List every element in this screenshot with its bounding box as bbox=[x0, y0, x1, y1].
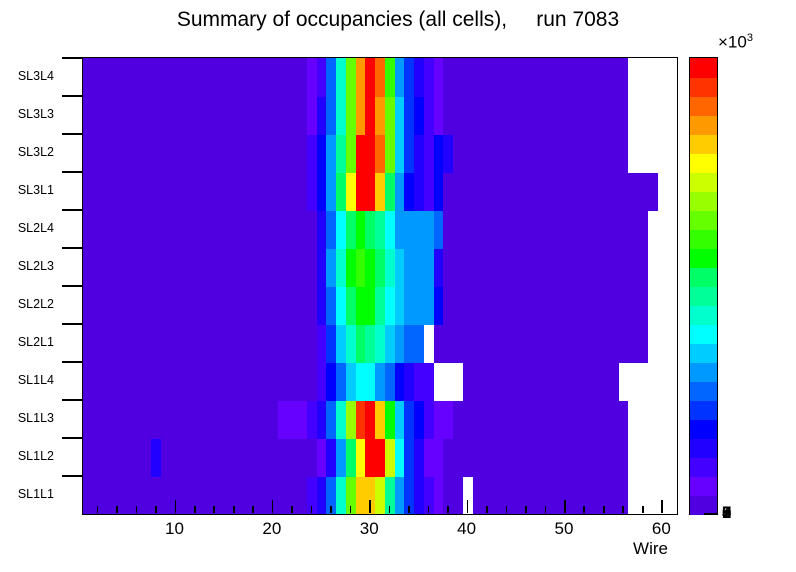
x-axis-tick bbox=[525, 506, 527, 513]
x-axis-tick bbox=[389, 506, 391, 513]
heatmap-cell bbox=[667, 58, 677, 97]
heatmap-cell bbox=[667, 172, 677, 211]
page-title: Summary of occupancies (all cells), run … bbox=[0, 8, 796, 32]
x-axis-title: Wire bbox=[633, 539, 668, 559]
y-axis-tick bbox=[62, 247, 82, 249]
y-axis-label: SL1L4 bbox=[18, 373, 54, 387]
x-axis-tick bbox=[155, 506, 157, 513]
x-axis-tick bbox=[233, 506, 235, 513]
x-axis-tick bbox=[564, 500, 566, 513]
y-axis-label: SL1L2 bbox=[18, 449, 54, 463]
x-axis-tick bbox=[311, 506, 313, 513]
x-axis-tick bbox=[467, 500, 469, 513]
color-scale-segment bbox=[690, 229, 717, 249]
heatmap-cells bbox=[83, 58, 677, 514]
x-axis-tick bbox=[545, 506, 547, 513]
x-axis-tick bbox=[175, 500, 177, 513]
color-scale-bar bbox=[689, 57, 718, 515]
y-axis-label: SL3L4 bbox=[18, 69, 54, 83]
heatmap-cell bbox=[667, 210, 677, 249]
x-axis-tick-label: 60 bbox=[652, 519, 671, 539]
y-axis-tick bbox=[62, 323, 82, 325]
x-axis-tick bbox=[136, 506, 138, 513]
y-axis-label: SL1L3 bbox=[18, 411, 54, 425]
x-axis-tick bbox=[350, 506, 352, 513]
x-axis-tick bbox=[603, 506, 605, 513]
x-axis-tick bbox=[252, 506, 254, 513]
plot-frame bbox=[82, 57, 678, 515]
color-scale-segment bbox=[690, 362, 717, 382]
color-scale-segment bbox=[690, 210, 717, 230]
heatmap-cell bbox=[667, 362, 677, 401]
color-scale-segment bbox=[690, 248, 717, 268]
x-axis-tick bbox=[486, 506, 488, 513]
color-scale-segment bbox=[690, 153, 717, 173]
y-axis-labels: SL1L1SL1L2SL1L3SL1L4SL2L1SL2L2SL2L3SL2L4… bbox=[0, 57, 76, 513]
y-axis-label: SL2L2 bbox=[18, 297, 54, 311]
x-axis-tick bbox=[661, 500, 663, 513]
color-scale-segment bbox=[690, 495, 717, 515]
y-axis-tick bbox=[62, 57, 82, 59]
x-axis-tick-label: 10 bbox=[165, 519, 184, 539]
x-axis-tick-label: 20 bbox=[262, 519, 281, 539]
y-axis-label: SL2L4 bbox=[18, 221, 54, 235]
x-axis-tick bbox=[194, 506, 196, 513]
x-axis-tick bbox=[428, 506, 430, 513]
x-axis-tick bbox=[506, 506, 508, 513]
color-scale-segment bbox=[690, 172, 717, 192]
z-exponent-base: ×10 bbox=[718, 33, 747, 52]
color-scale-segment bbox=[690, 134, 717, 154]
y-axis-tick bbox=[62, 475, 82, 477]
x-axis-tick bbox=[408, 506, 410, 513]
y-axis-tick bbox=[62, 209, 82, 211]
x-axis-tick-label: 50 bbox=[555, 519, 574, 539]
x-axis-tick bbox=[447, 506, 449, 513]
color-scale-segment bbox=[690, 77, 717, 97]
y-axis-label: SL3L2 bbox=[18, 145, 54, 159]
y-axis-tick bbox=[62, 361, 82, 363]
heatmap-cell bbox=[667, 324, 677, 363]
x-axis-tick bbox=[330, 506, 332, 513]
color-scale-segment bbox=[690, 58, 717, 78]
x-axis-tick bbox=[213, 506, 215, 513]
y-axis-label: SL2L1 bbox=[18, 335, 54, 349]
x-axis-tick bbox=[642, 506, 644, 513]
y-axis-tick bbox=[62, 133, 82, 135]
z-exponent-power: 3 bbox=[747, 32, 753, 44]
y-axis-tick bbox=[62, 171, 82, 173]
x-axis-tick bbox=[622, 506, 624, 513]
color-scale-segment bbox=[690, 457, 717, 477]
heatmap-cell bbox=[667, 286, 677, 325]
y-axis-tick bbox=[62, 437, 82, 439]
x-axis-tick bbox=[291, 506, 293, 513]
color-scale-segment bbox=[690, 286, 717, 306]
x-axis-tick-label: 40 bbox=[457, 519, 476, 539]
y-axis-tick bbox=[62, 95, 82, 97]
y-axis-tick bbox=[62, 399, 82, 401]
y-axis-label: SL3L1 bbox=[18, 183, 54, 197]
color-scale-segment bbox=[690, 476, 717, 496]
heatmap-cell bbox=[667, 134, 677, 173]
heatmap-cell bbox=[667, 476, 677, 514]
z-axis-exponent: ×103 bbox=[718, 32, 753, 53]
x-axis-tick bbox=[369, 500, 371, 513]
heatmap-cell bbox=[667, 438, 677, 477]
color-scale-segment bbox=[690, 343, 717, 363]
y-axis-label: SL1L1 bbox=[18, 487, 54, 501]
color-scale-segment bbox=[690, 96, 717, 116]
color-scale-segment bbox=[690, 267, 717, 287]
heatmap-cell bbox=[667, 96, 677, 135]
color-scale-segment bbox=[690, 115, 717, 135]
heatmap-cell bbox=[667, 400, 677, 439]
x-axis-tick-label: 30 bbox=[360, 519, 379, 539]
z-axis-tick-label: 9 bbox=[722, 503, 731, 523]
color-scale-segment bbox=[690, 419, 717, 439]
x-axis-tick bbox=[116, 506, 118, 513]
x-axis-tick bbox=[583, 506, 585, 513]
color-scale-segment bbox=[690, 191, 717, 211]
y-axis-tick bbox=[62, 285, 82, 287]
color-scale-segment bbox=[690, 381, 717, 401]
z-axis-tick bbox=[704, 513, 717, 515]
color-scale-segment bbox=[690, 324, 717, 344]
y-axis-label: SL3L3 bbox=[18, 107, 54, 121]
color-scale-segment bbox=[690, 305, 717, 325]
x-axis-tick bbox=[272, 500, 274, 513]
heatmap-cell bbox=[667, 248, 677, 287]
y-axis-label: SL2L3 bbox=[18, 259, 54, 273]
x-axis-tick bbox=[97, 506, 99, 513]
color-scale-segment bbox=[690, 400, 717, 420]
color-scale-segment bbox=[690, 438, 717, 458]
